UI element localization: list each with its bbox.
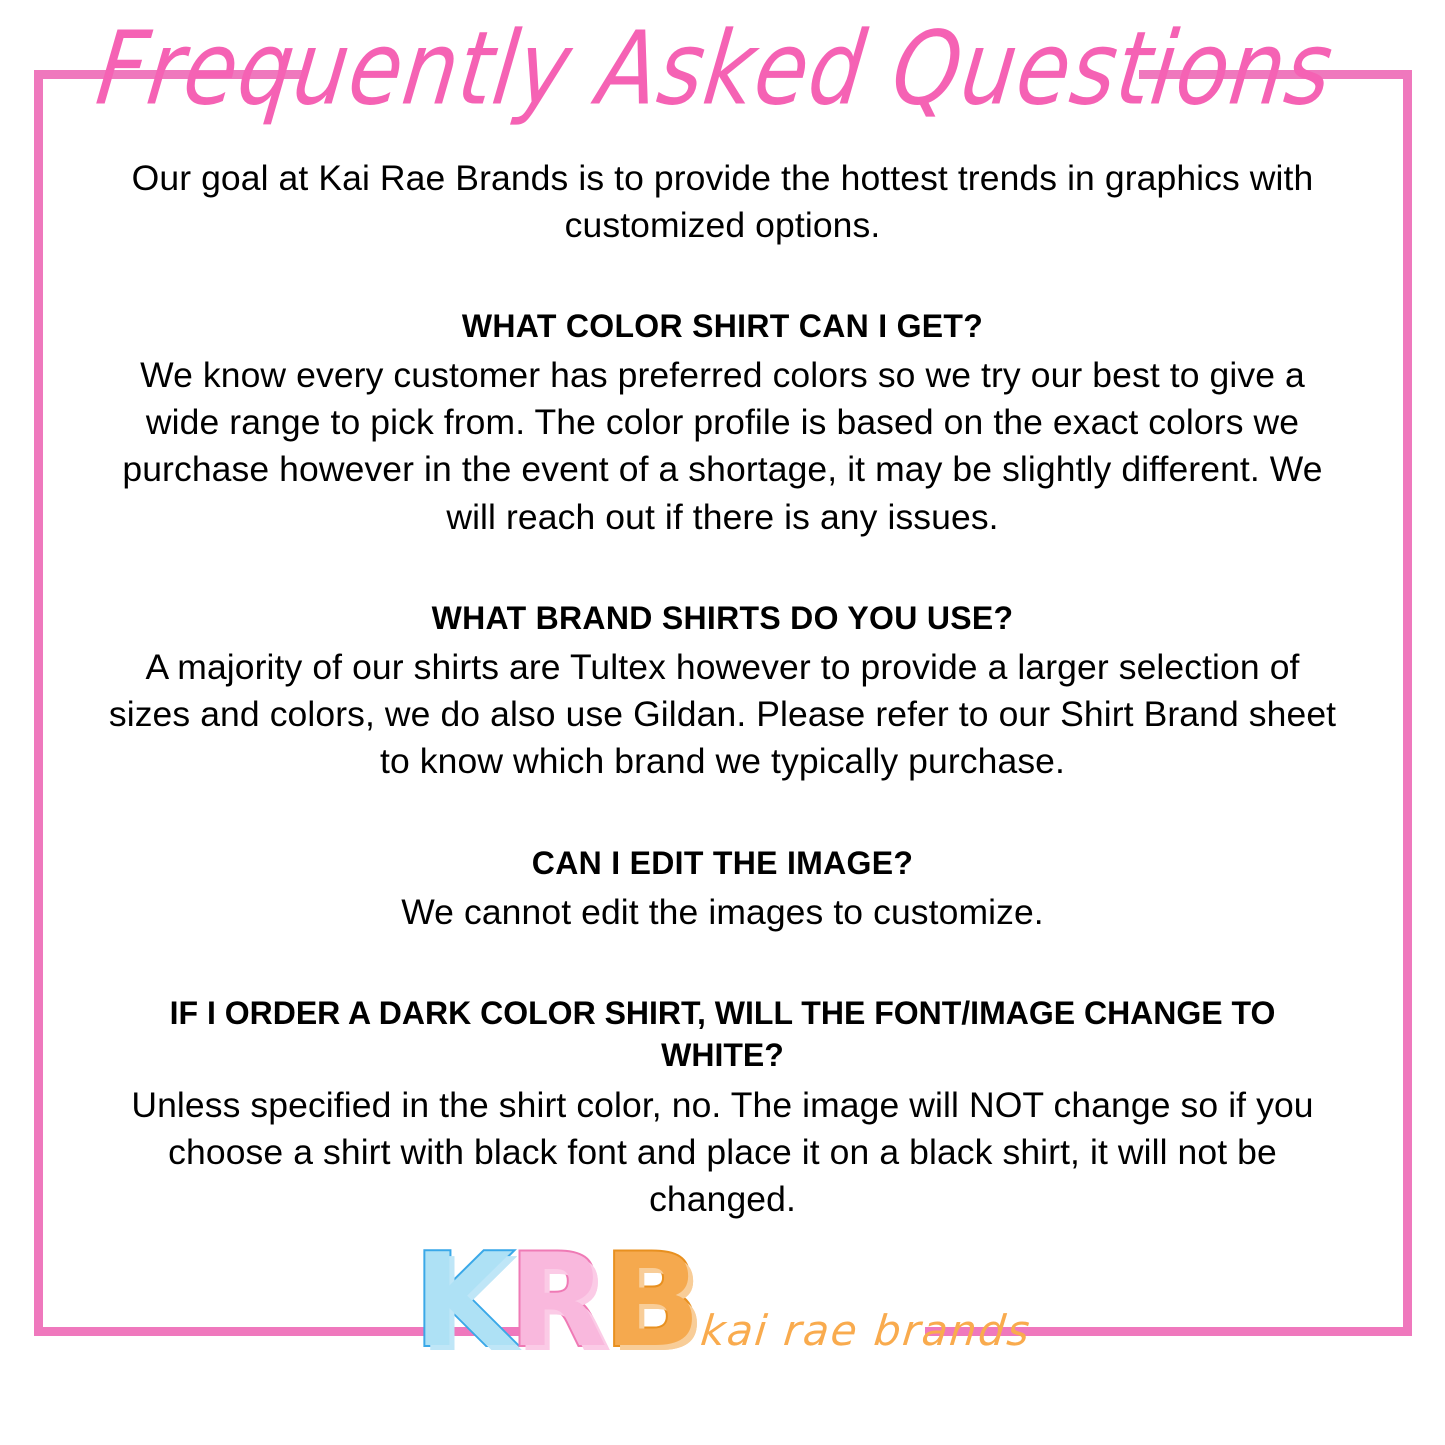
faq-answer: Unless specified in the shirt color, no.… [105, 1082, 1340, 1224]
logo-letter-b-fill: B [603, 1238, 697, 1366]
faq-item-4: IF I ORDER A DARK COLOR SHIRT, WILL THE … [105, 992, 1340, 1223]
logo-letter-r: RR [509, 1238, 604, 1366]
logo-letter-r-fill: R [509, 1238, 604, 1366]
page-title: Frequently Asked Questions [0, 8, 1445, 132]
faq-content: Our goal at Kai Rae Brands is to provide… [105, 155, 1340, 1223]
faq-question: IF I ORDER A DARK COLOR SHIRT, WILL THE … [105, 992, 1340, 1076]
faq-question: WHAT BRAND SHIRTS DO YOU USE? [105, 597, 1340, 639]
frame-border-left [34, 70, 43, 1336]
faq-answer: We cannot edit the images to customize. [105, 889, 1340, 936]
logo-letter-b: BB [603, 1238, 697, 1366]
faq-item-1: WHAT COLOR SHIRT CAN I GET? We know ever… [105, 305, 1340, 541]
logo-letter-k-fill: K [414, 1238, 509, 1366]
intro-paragraph: Our goal at Kai Rae Brands is to provide… [105, 155, 1340, 249]
logo-tagline: kai rae brands [699, 1306, 1034, 1355]
frame-border-right [1403, 70, 1412, 1336]
brand-logo: KKRRBB kai rae brands [0, 1238, 1445, 1366]
faq-question: CAN I EDIT THE IMAGE? [105, 842, 1340, 884]
faq-item-2: WHAT BRAND SHIRTS DO YOU USE? A majority… [105, 597, 1340, 786]
logo-letter-k: KK [414, 1238, 509, 1366]
faq-answer: We know every customer has preferred col… [105, 352, 1340, 541]
faq-answer: A majority of our shirts are Tultex howe… [105, 644, 1340, 786]
faq-question: WHAT COLOR SHIRT CAN I GET? [105, 305, 1340, 347]
faq-graphic: Frequently Asked Questions Our goal at K… [0, 0, 1445, 1445]
logo-letters: KKRRBB [414, 1238, 697, 1366]
faq-item-3: CAN I EDIT THE IMAGE? We cannot edit the… [105, 842, 1340, 936]
